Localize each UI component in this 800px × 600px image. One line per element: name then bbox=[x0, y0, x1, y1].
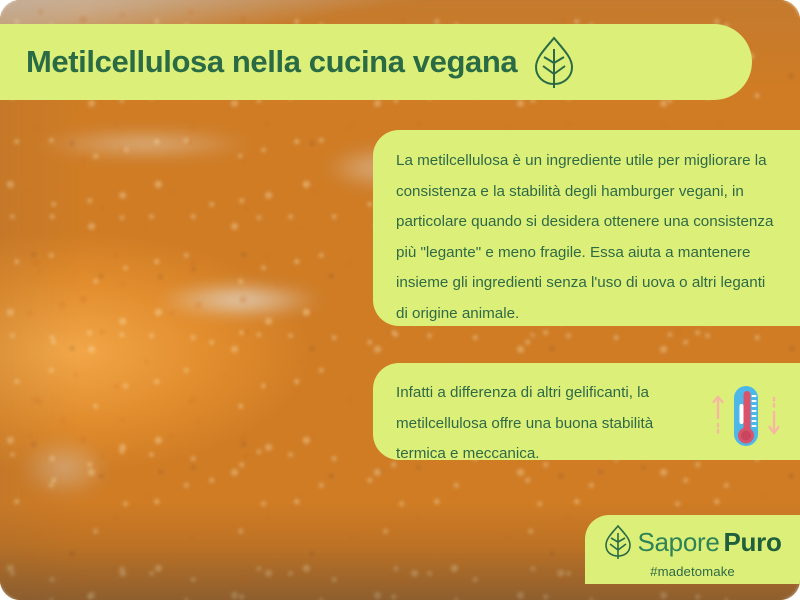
leaf-icon bbox=[603, 524, 633, 560]
leaf-icon bbox=[531, 35, 577, 89]
brand-logo-block: Sapore Puro #madetomake bbox=[585, 515, 800, 584]
thermometer-icon-wrapper bbox=[710, 380, 782, 457]
page-title: Metilcellulosa nella cucina vegana bbox=[26, 44, 517, 80]
main-description-text: La metilcellulosa è un ingrediente utile… bbox=[396, 146, 778, 330]
thermometer-icon bbox=[710, 380, 782, 452]
brand-name-secondary: Puro bbox=[724, 529, 782, 555]
stability-note-card: Infatti a differenza di altri gelificant… bbox=[373, 363, 800, 460]
brand-name-primary: Sapore bbox=[637, 529, 719, 555]
infographic-card: Metilcellulosa nella cucina vegana La me… bbox=[0, 0, 800, 600]
stability-note-text: Infatti a differenza di altri gelificant… bbox=[396, 378, 704, 470]
brand-hashtag: #madetomake bbox=[585, 564, 800, 579]
brand-name-row: Sapore Puro bbox=[585, 524, 800, 560]
main-description-card: La metilcellulosa è un ingrediente utile… bbox=[373, 130, 800, 326]
header-banner: Metilcellulosa nella cucina vegana bbox=[0, 24, 752, 100]
